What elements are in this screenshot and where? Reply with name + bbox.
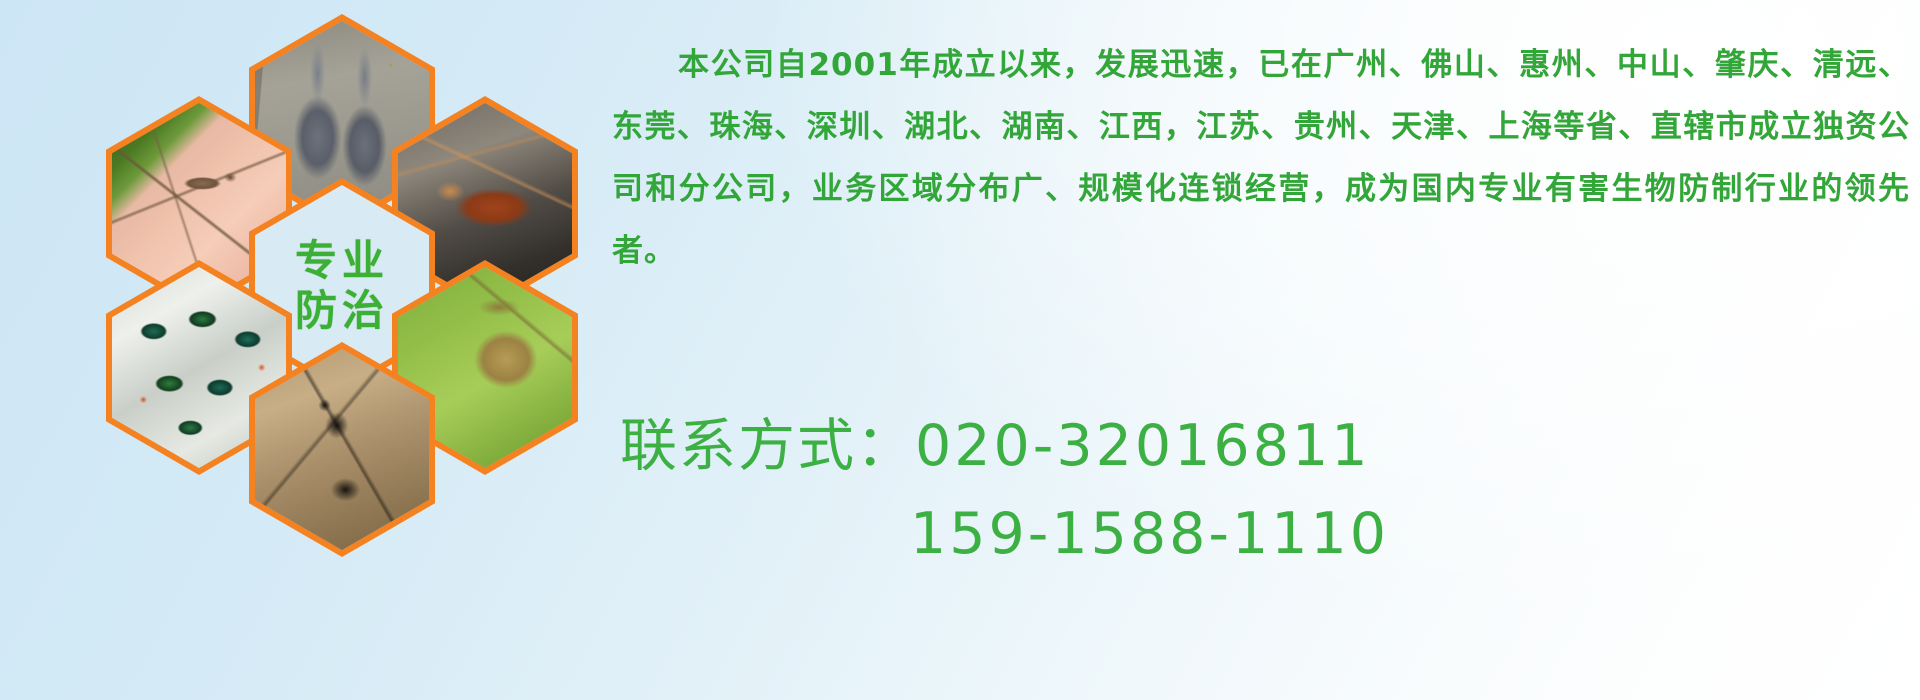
center-heading-line-2: 防治: [295, 286, 389, 336]
ant-photo: [255, 349, 429, 550]
pest-control-banner: 专业 防治 本公司自2001年成立以来，发展迅速，已在广州、佛山、惠州、中山、肇…: [0, 0, 1920, 700]
company-intro-paragraph: 本公司自2001年成立以来，发展迅速，已在广州、佛山、惠州、中山、肇庆、清远、东…: [612, 34, 1910, 282]
contact-block: 联系方式：020-32016811 159-1588-1110: [620, 402, 1920, 578]
phone-primary[interactable]: 020-32016811: [915, 413, 1370, 479]
honeycomb-collage: 专业 防治: [92, 8, 592, 568]
contact-line-secondary: 159-1588-1110: [620, 490, 1920, 578]
contact-label: 联系方式：: [620, 413, 915, 479]
hex-inner-ant: [255, 349, 429, 550]
center-heading-line-1: 专业: [295, 236, 389, 286]
contact-line-primary: 联系方式：020-32016811: [620, 402, 1920, 490]
intro-copy-block: 本公司自2001年成立以来，发展迅速，已在广州、佛山、惠州、中山、肇庆、清远、东…: [612, 34, 1912, 282]
center-heading: 专业 防治: [295, 236, 389, 335]
phone-secondary[interactable]: 159-1588-1110: [910, 501, 1389, 567]
